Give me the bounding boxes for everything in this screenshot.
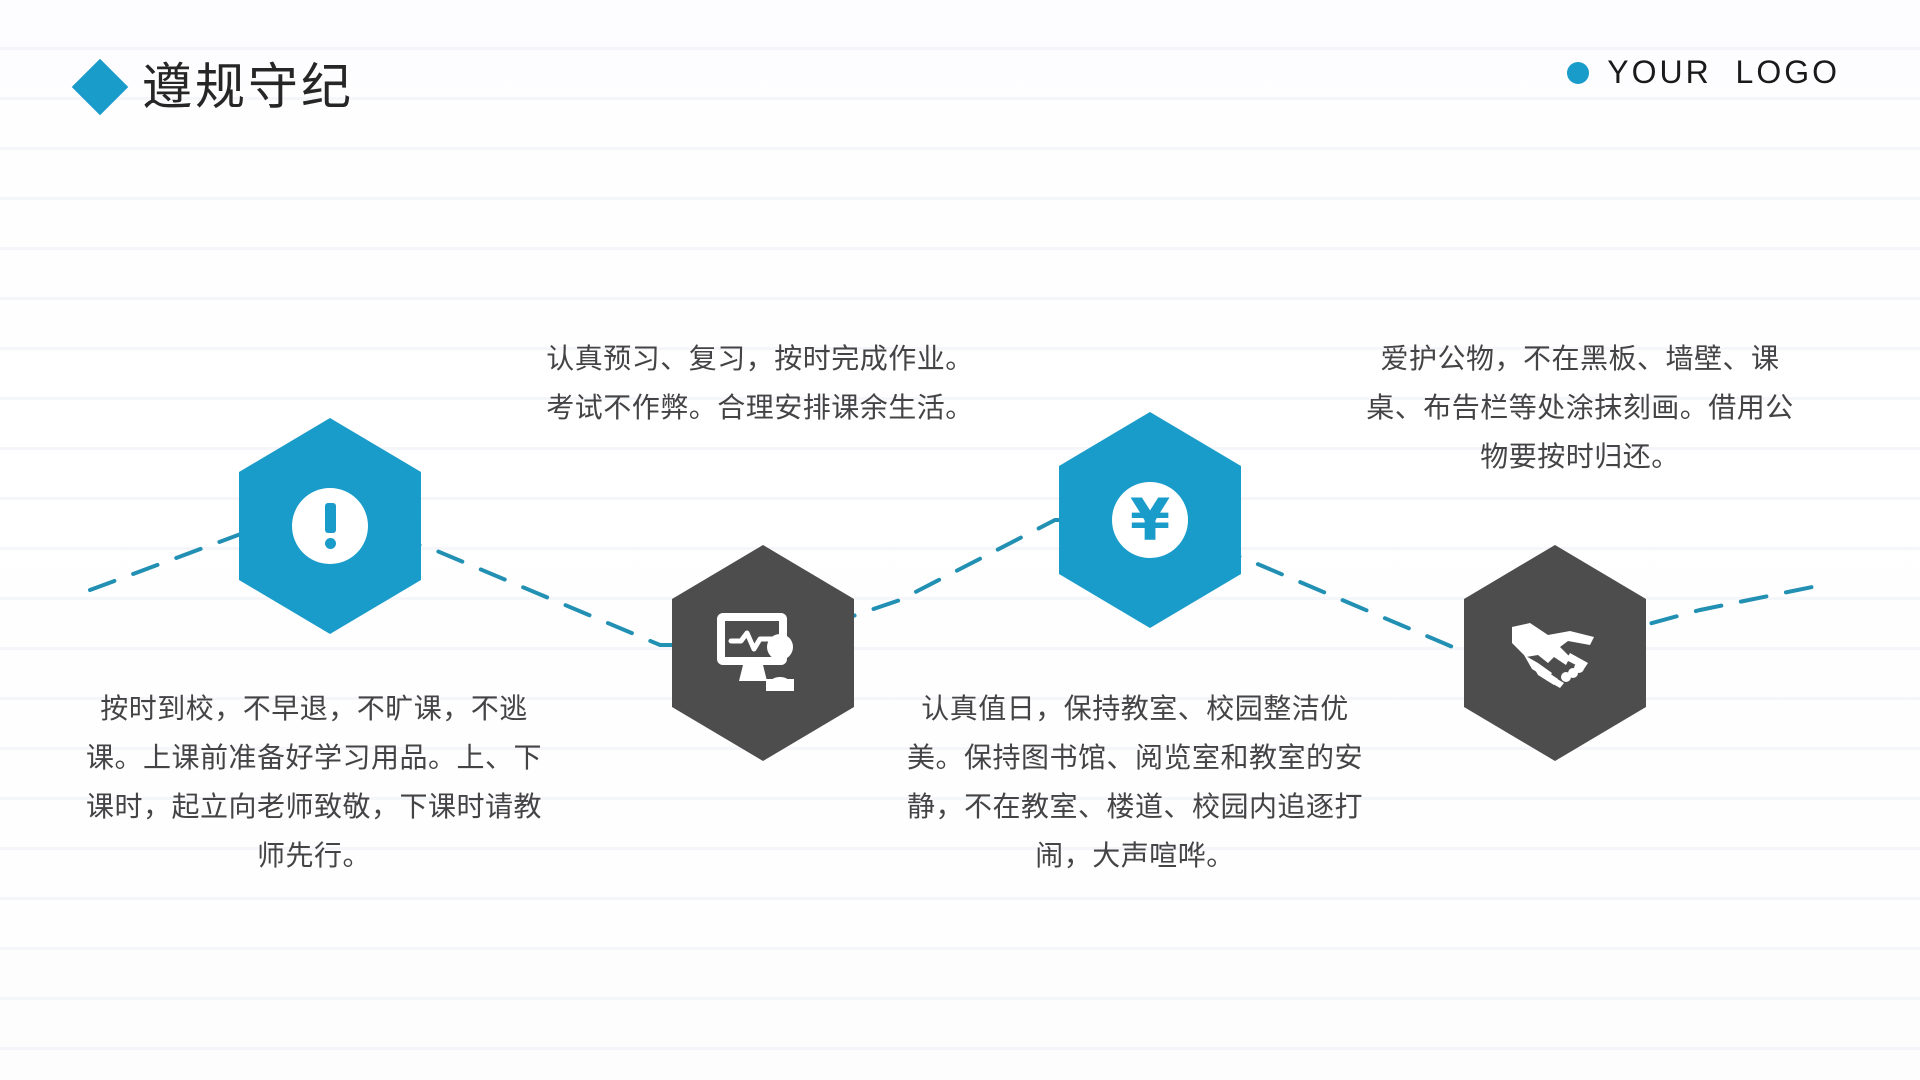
brand-logo: YOUR LOGO <box>1567 54 1840 91</box>
yen-currency-icon: ¥ <box>1112 482 1188 558</box>
node-hexagon-4[interactable] <box>1464 545 1646 761</box>
exclamation-mark-icon <box>292 488 368 564</box>
presentation-board-person-icon <box>717 613 809 693</box>
page-title: 遵规守纪 <box>80 62 354 112</box>
node-hexagon-2[interactable] <box>672 545 854 761</box>
node-description-4: 爱护公物，不在黑板、墙壁、课桌、布告栏等处涂抹刻画。借用公物要按时归还。 <box>1355 334 1805 481</box>
slide-canvas: 遵规守纪 YOUR LOGO ¥ <box>0 0 1920 1080</box>
node-description-1: 按时到校，不早退，不旷课，不逃课。上课前准备好学习用品。上、下课时，起立向老师致… <box>84 684 544 880</box>
yen-glyph: ¥ <box>1130 491 1170 549</box>
logo-label: YOUR LOGO <box>1607 54 1840 91</box>
node-hexagon-1[interactable] <box>239 418 421 634</box>
circle-dot-icon <box>1567 62 1589 84</box>
handshake-icon <box>1508 617 1602 689</box>
node-description-2: 认真预习、复习，按时完成作业。考试不作弊。合理安排课余生活。 <box>540 334 980 432</box>
node-description-3: 认真值日，保持教室、校园整洁优美。保持图书馆、阅览室和教室的安静，不在教室、楼道… <box>900 684 1370 880</box>
page-title-label: 遵规守纪 <box>142 62 354 112</box>
node-hexagon-3[interactable]: ¥ <box>1059 412 1241 628</box>
diamond-icon <box>72 59 129 116</box>
